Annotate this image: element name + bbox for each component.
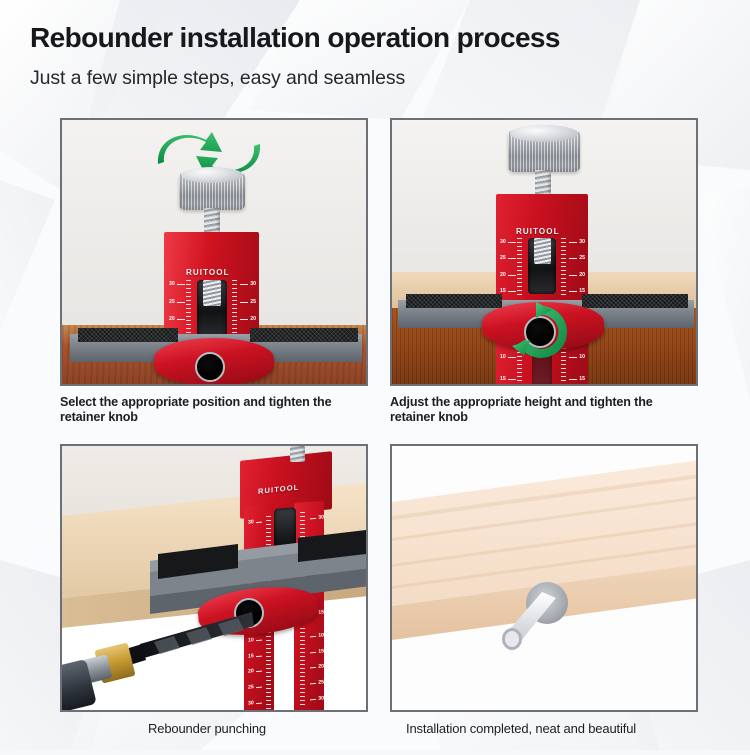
step-4-photo: [390, 444, 698, 712]
step-3: RUITOOL 30 25 20 15: [60, 444, 368, 737]
scale-tick-label: 20: [500, 273, 506, 278]
step-4: Installation completed, neat and beautif…: [390, 444, 698, 737]
step-3-photo: RUITOOL 30 25 20 15: [60, 444, 368, 712]
scale-tick-label: 30: [250, 282, 256, 287]
steps-grid: RUITOOL 30 25 20 15 30 25: [0, 118, 750, 737]
page-subtitle: Just a few simple steps, easy and seamle…: [30, 67, 560, 90]
scale-tick-label: 15: [579, 377, 585, 382]
header: Rebounder installation operation process…: [30, 22, 560, 90]
step-2-caption: Adjust the appropriate height and tighte…: [390, 395, 690, 426]
scale-tick-label: 10: [579, 355, 585, 360]
grip-pad-right: [582, 294, 688, 308]
scale-tick-label: 10: [500, 355, 506, 360]
step-1: RUITOOL 30 25 20 15 30 25: [60, 118, 368, 426]
steps-row-top: RUITOOL 30 25 20 15 30 25: [0, 118, 750, 426]
brand-label: RUITOOL: [186, 268, 230, 277]
scene-adjust-height: RUITOOL 30 25 20 15 30 25 20: [392, 120, 696, 384]
knob-top-face: [181, 167, 243, 183]
knob-top-face: [510, 125, 578, 142]
scale-left-minor-ticks: [517, 238, 522, 296]
scale-tick-label: 30: [579, 240, 585, 245]
scale-right-minor-ticks: [561, 238, 566, 296]
scale-tick-label: 15: [500, 377, 506, 382]
scale-right-minor-ticks: [232, 280, 237, 342]
steps-row-bottom: RUITOOL 30 25 20 15: [0, 444, 750, 737]
step-2-photo: RUITOOL 30 25 20 15 30 25 20: [390, 118, 698, 386]
inner-screw: [203, 280, 221, 306]
grip-pad-left: [78, 328, 178, 342]
scale-left-minor-ticks: [186, 280, 191, 342]
scale-tick-label: 20: [250, 317, 256, 322]
step-1-photo: RUITOOL 30 25 20 15 30 25: [60, 118, 368, 386]
page-title: Rebounder installation operation process: [30, 22, 560, 54]
scale-tick-label: 20: [169, 317, 175, 322]
scene-select-position: RUITOOL 30 25 20 15 30 25: [62, 120, 366, 384]
brand-label: RUITOOL: [516, 227, 560, 236]
scale-tick-label: 25: [500, 256, 506, 261]
grip-pad-right: [250, 328, 358, 342]
scale-tick-label: 20: [579, 273, 585, 278]
step-3-caption: Rebounder punching: [60, 721, 360, 737]
scale-tick-label: 25: [169, 300, 175, 305]
grip-pad-left: [406, 294, 502, 308]
step-2: RUITOOL 30 25 20 15 30 25 20: [390, 118, 698, 426]
step-4-caption: Installation completed, neat and beautif…: [390, 721, 690, 737]
scale-tick-label: 30: [169, 282, 175, 287]
rotate-circle-icon: [508, 300, 572, 364]
scale-tick-label: 30: [500, 240, 506, 245]
scale-tick-label: 25: [579, 256, 585, 261]
scene-installation-complete: [392, 446, 696, 710]
scale-tick-label: 25: [250, 300, 256, 305]
inner-screw: [534, 238, 551, 264]
scene-rebounder-punching: RUITOOL 30 25 20 15: [62, 446, 366, 710]
step-1-caption: Select the appropriate position and tigh…: [60, 395, 360, 426]
installed-rebounder-pin: [392, 446, 698, 712]
lever-hub: [195, 352, 225, 382]
